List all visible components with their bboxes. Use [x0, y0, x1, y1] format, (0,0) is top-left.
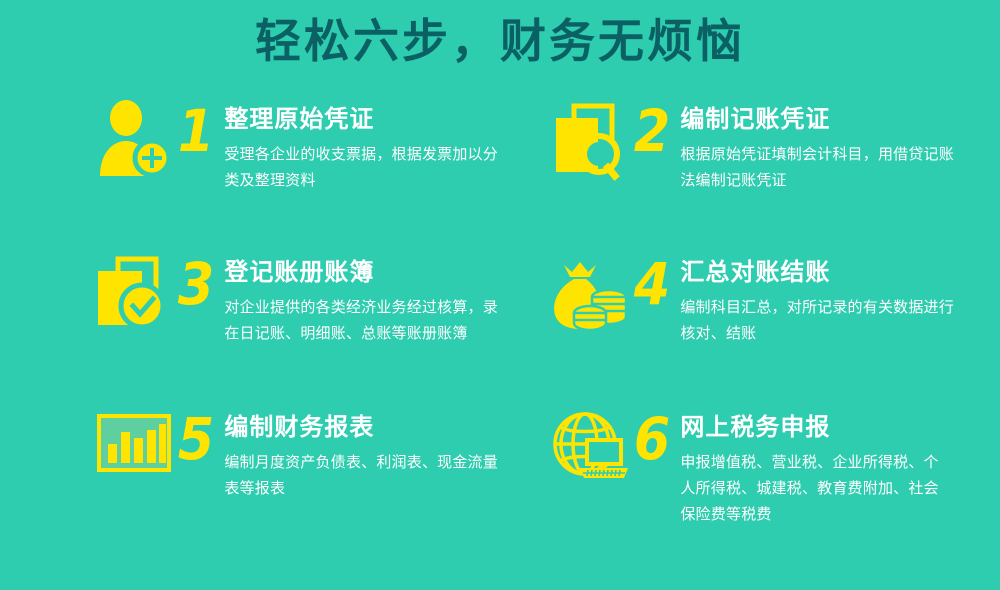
- step-item-3: 3 登记账册账簿 对企业提供的各类经济业务经过核算，录在日记账、明细账、总账等账…: [96, 249, 526, 346]
- step-number-4: 4: [634, 255, 669, 313]
- step-title-2: 编制记账凭证: [680, 104, 982, 134]
- page-title: 轻松六步，财务无烦恼: [0, 12, 1000, 70]
- step-desc-2: 根据原始凭证填制会计科目，用借贷记账法编制记账凭证: [680, 141, 968, 193]
- step-text-6: 网上税务申报 申报增值税、营业税、企业所得税、个人所得税、城建税、教育费附加、社…: [680, 404, 982, 527]
- step-item-5: 5 编制财务报表 编制月度资产负债表、利润表、现金流量表等报表: [96, 404, 526, 501]
- step-number-3: 3: [178, 255, 213, 313]
- step-item-2: 2 编制记账凭证 根据原始凭证填制会计科目，用借贷记账法编制记账凭证: [552, 96, 982, 193]
- steps-grid: 1 整理原始凭证 受理各企业的收支票据，根据发票加以分类及整理资料 2: [0, 96, 1000, 590]
- step-text-3: 登记账册账簿 对企业提供的各类经济业务经过核算，录在日记账、明细账、总账等账册账…: [224, 249, 526, 346]
- step-text-5: 编制财务报表 编制月度资产负债表、利润表、现金流量表等报表: [224, 404, 526, 501]
- globe-laptop-icon: [552, 408, 630, 490]
- step-text-2: 编制记账凭证 根据原始凭证填制会计科目，用借贷记账法编制记账凭证: [680, 96, 982, 193]
- poster-canvas: 轻松六步，财务无烦恼 1 整: [0, 0, 1000, 590]
- step-number-1: 1: [178, 102, 213, 160]
- step-title-3: 登记账册账簿: [224, 257, 526, 287]
- step-desc-1: 受理各企业的收支票据，根据发票加以分类及整理资料: [224, 141, 512, 193]
- user-add-icon: [96, 100, 174, 182]
- step-number-6: 6: [634, 410, 669, 468]
- step-text-4: 汇总对账结账 编制科目汇总，对所记录的有关数据进行核对、结账: [680, 249, 982, 346]
- money-bag-coins-icon: [552, 253, 630, 335]
- step-number-2: 2: [634, 102, 669, 160]
- document-check-icon: [96, 253, 174, 335]
- document-search-icon: [552, 100, 630, 182]
- step-title-1: 整理原始凭证: [224, 104, 526, 134]
- step-title-6: 网上税务申报: [680, 412, 982, 442]
- step-text-1: 整理原始凭证 受理各企业的收支票据，根据发票加以分类及整理资料: [224, 96, 526, 193]
- step-desc-6: 申报增值税、营业税、企业所得税、个人所得税、城建税、教育费附加、社会保险费等税费: [680, 449, 948, 527]
- step-desc-4: 编制科目汇总，对所记录的有关数据进行核对、结账: [680, 294, 968, 346]
- step-desc-3: 对企业提供的各类经济业务经过核算，录在日记账、明细账、总账等账册账簿: [224, 294, 512, 346]
- step-number-5: 5: [178, 410, 213, 468]
- step-title-5: 编制财务报表: [224, 412, 526, 442]
- step-item-1: 1 整理原始凭证 受理各企业的收支票据，根据发票加以分类及整理资料: [96, 96, 526, 193]
- bar-chart-icon: [96, 408, 174, 490]
- step-title-4: 汇总对账结账: [680, 257, 982, 287]
- step-item-6: 6 网上税务申报 申报增值税、营业税、企业所得税、个人所得税、城建税、教育费附加…: [552, 404, 982, 527]
- step-item-4: 4 汇总对账结账 编制科目汇总，对所记录的有关数据进行核对、结账: [552, 249, 982, 346]
- step-desc-5: 编制月度资产负债表、利润表、现金流量表等报表: [224, 449, 512, 501]
